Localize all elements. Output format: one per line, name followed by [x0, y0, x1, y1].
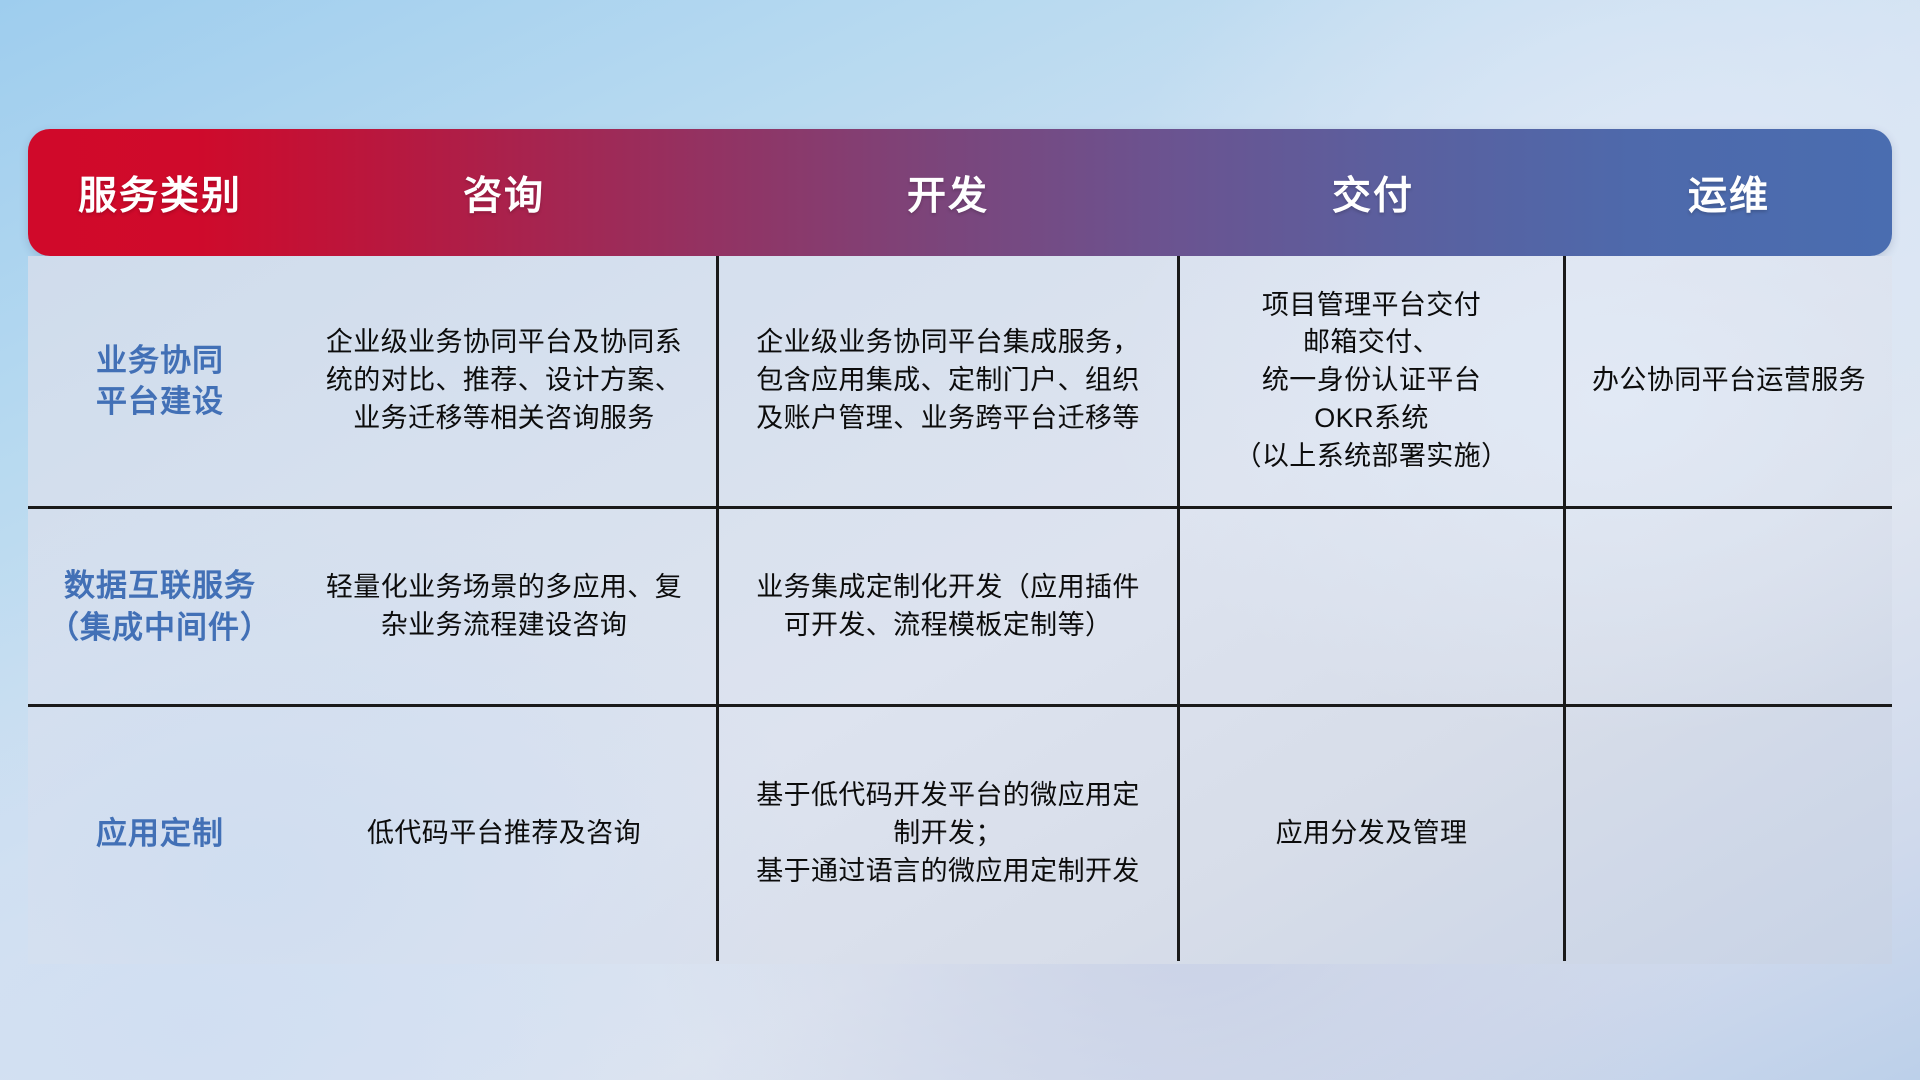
row-category-line: 应用定制	[96, 813, 224, 854]
cell-text-line: 邮箱交付、	[1303, 327, 1440, 357]
cell-operations	[1566, 509, 1892, 704]
cell-consulting: 低代码平台推荐及咨询	[292, 707, 716, 961]
table-row: 业务协同 平台建设 企业级业务协同平台及协同系 统的对比、推荐、设计方案、 业务…	[28, 256, 1892, 509]
cell-text-line: 包含应用集成、定制门户、组织	[756, 365, 1140, 395]
row-category-line: 业务协同	[96, 343, 224, 378]
cell-text-line: 可开发、流程模板定制等）	[784, 610, 1113, 640]
cell-development: 业务集成定制化开发（应用插件 可开发、流程模板定制等）	[716, 509, 1180, 704]
table-body: 业务协同 平台建设 企业级业务协同平台及协同系 统的对比、推荐、设计方案、 业务…	[28, 256, 1892, 964]
cell-text-line: 轻量化业务场景的多应用、复	[326, 572, 682, 602]
row-category-cell: 数据互联服务 （集成中间件）	[28, 509, 292, 704]
row-category-line: 数据互联服务	[64, 568, 256, 603]
cell-development: 基于低代码开发平台的微应用定 制开发； 基于通过语言的微应用定制开发	[716, 707, 1180, 961]
cell-text-line: 统的对比、推荐、设计方案、	[326, 365, 682, 395]
cell-text-line: 业务迁移等相关咨询服务	[353, 403, 654, 433]
cell-text-line: 企业级业务协同平台及协同系	[326, 327, 682, 357]
cell-delivery: 应用分发及管理	[1180, 707, 1566, 961]
cell-text-line: 基于通过语言的微应用定制开发	[756, 856, 1140, 886]
cell-operations	[1566, 707, 1892, 961]
cell-development: 企业级业务协同平台集成服务， 包含应用集成、定制门户、组织 及账户管理、业务跨平…	[716, 256, 1180, 506]
column-header-consulting: 咨询	[292, 165, 716, 221]
cell-text-line: 基于低代码开发平台的微应用定	[756, 780, 1140, 810]
cell-consulting: 轻量化业务场景的多应用、复 杂业务流程建设咨询	[292, 509, 716, 704]
cell-text-line: 办公协同平台运营服务	[1592, 362, 1866, 400]
cell-text-line: 应用分发及管理	[1276, 815, 1468, 853]
cell-delivery	[1180, 509, 1566, 704]
row-category-line: 平台建设	[96, 384, 224, 419]
cell-delivery: 项目管理平台交付 邮箱交付、 统一身份认证平台 OKR系统 （以上系统部署实施）	[1180, 256, 1566, 506]
cell-operations: 办公协同平台运营服务	[1566, 256, 1892, 506]
table-row: 应用定制 低代码平台推荐及咨询 基于低代码开发平台的微应用定 制开发； 基于通过…	[28, 707, 1892, 961]
cell-text-line: 项目管理平台交付	[1262, 290, 1481, 320]
cell-text-line: （以上系统部署实施）	[1235, 441, 1509, 471]
service-matrix-table: 服务类别 咨询 开发 交付 运维 业务协同 平台建设 企业级业务协同平台及协同系	[28, 129, 1892, 964]
cell-text-line: 低代码平台推荐及咨询	[367, 815, 641, 853]
row-category-cell: 应用定制	[28, 707, 292, 961]
cell-text-line: 杂业务流程建设咨询	[381, 610, 628, 640]
cell-text-line: OKR系统	[1314, 403, 1429, 433]
column-header-delivery: 交付	[1180, 165, 1566, 221]
row-category-line: （集成中间件）	[48, 610, 272, 645]
cell-text-line: 企业级业务协同平台集成服务，	[756, 327, 1140, 357]
table-row: 数据互联服务 （集成中间件） 轻量化业务场景的多应用、复 杂业务流程建设咨询 业…	[28, 509, 1892, 707]
cell-text-line: 业务集成定制化开发（应用插件	[756, 572, 1140, 602]
slide-canvas: 服务类别 咨询 开发 交付 运维 业务协同 平台建设 企业级业务协同平台及协同系	[0, 0, 1920, 1080]
column-header-development: 开发	[716, 165, 1180, 221]
cell-text-line: 统一身份认证平台	[1262, 365, 1481, 395]
table-header-row: 服务类别 咨询 开发 交付 运维	[28, 129, 1892, 256]
cell-consulting: 企业级业务协同平台及协同系 统的对比、推荐、设计方案、 业务迁移等相关咨询服务	[292, 256, 716, 506]
cell-text-line: 制开发；	[893, 818, 1003, 848]
column-header-operations: 运维	[1566, 165, 1892, 221]
row-category-cell: 业务协同 平台建设	[28, 256, 292, 506]
cell-text-line: 及账户管理、业务跨平台迁移等	[756, 403, 1140, 433]
column-header-service-category: 服务类别	[28, 165, 292, 221]
